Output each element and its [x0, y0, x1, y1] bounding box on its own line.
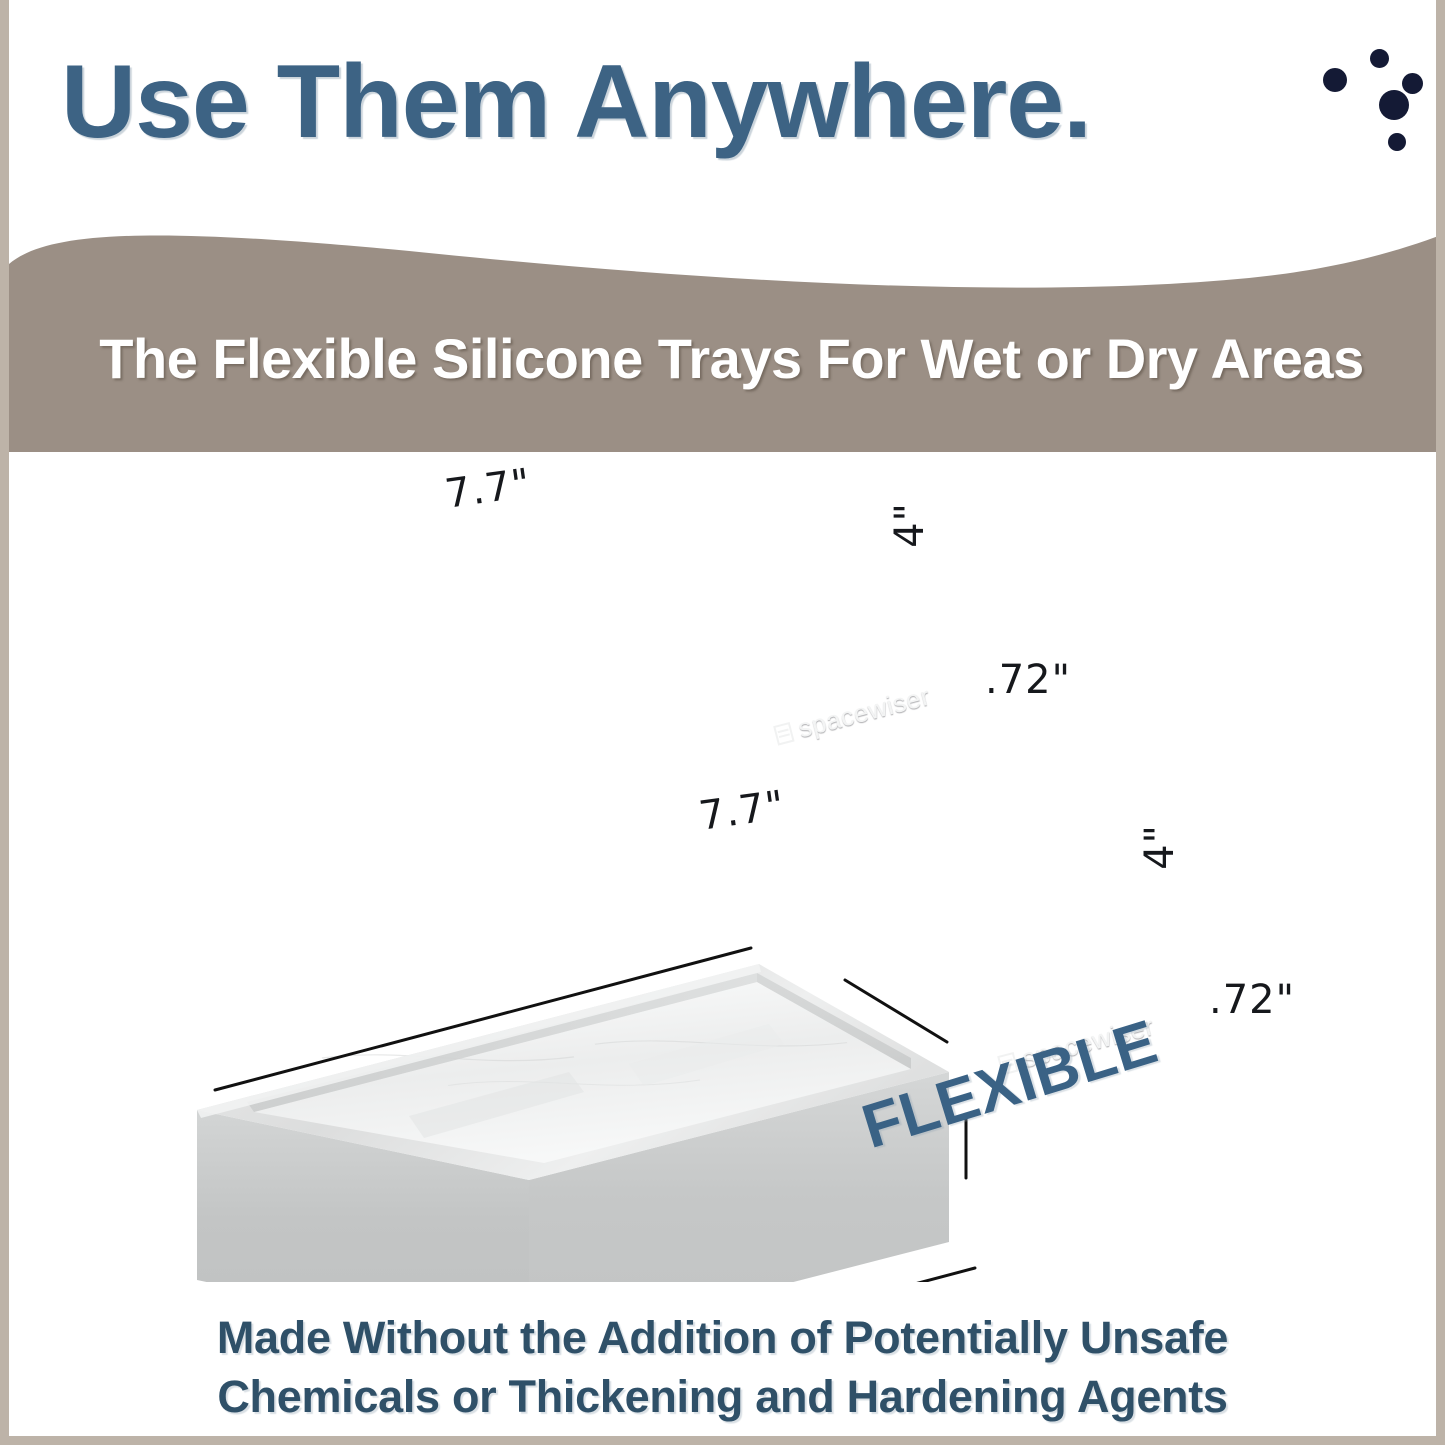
- decorative-dot-3: [1402, 73, 1423, 94]
- product-infographic: Use Them Anywhere. The Flexible Silicone…: [0, 0, 1445, 1445]
- decorative-dot-2: [1323, 68, 1347, 92]
- tray-bottom-width-label: 4": [1137, 824, 1183, 870]
- decorative-dot-1: [1370, 49, 1389, 68]
- tray-top-graphic: [197, 948, 966, 1282]
- footer-line-1: Made Without the Addition of Potentially…: [9, 1308, 1436, 1367]
- product-illustration: 7.7" 4" .72" 7.7" 4" .72" spacewiser spa…: [9, 452, 1445, 1282]
- spacewiser-icon: [773, 721, 794, 745]
- footer-line-2: Chemicals or Thickening and Hardening Ag…: [9, 1367, 1436, 1426]
- decorative-dot-4: [1379, 90, 1409, 120]
- tray-top-height-label: .72": [985, 657, 1071, 703]
- subtitle-banner: The Flexible Silicone Trays For Wet or D…: [9, 222, 1445, 452]
- tray-bottom-height-label: .72": [1209, 977, 1295, 1023]
- page-title: Use Them Anywhere.: [61, 48, 1091, 157]
- decorative-dot-5: [1388, 133, 1406, 151]
- banner-subtitle: The Flexible Silicone Trays For Wet or D…: [9, 326, 1445, 391]
- tray-top-width-label: 4": [887, 502, 933, 548]
- footer-copy: Made Without the Addition of Potentially…: [9, 1308, 1436, 1427]
- trays-svg: [9, 452, 1445, 1282]
